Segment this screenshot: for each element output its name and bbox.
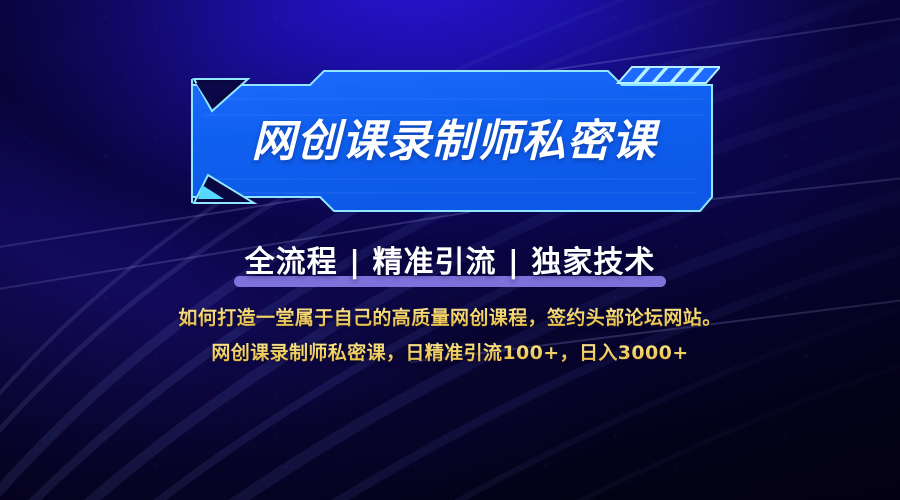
description-line-1: 如何打造一堂属于自己的高质量网创课程，签约头部论坛网站。 — [0, 303, 900, 330]
subtitle-text: 全流程 | 精准引流 | 独家技术 — [245, 243, 656, 283]
poster-canvas: 网创课录制师私密课 全流程 | 精准引流 | 独家技术 如何打造一堂属于自己的高… — [0, 0, 900, 500]
description-line-2: 网创课录制师私密课，日精准引流100+，日入3000+ — [0, 338, 900, 365]
banner-stripe-group — [618, 67, 720, 83]
page-title: 网创课录制师私密课 — [184, 120, 720, 164]
title-banner: 网创课录制师私密课 — [184, 63, 720, 221]
subtitle-block: 全流程 | 精准引流 | 独家技术 — [0, 243, 900, 287]
